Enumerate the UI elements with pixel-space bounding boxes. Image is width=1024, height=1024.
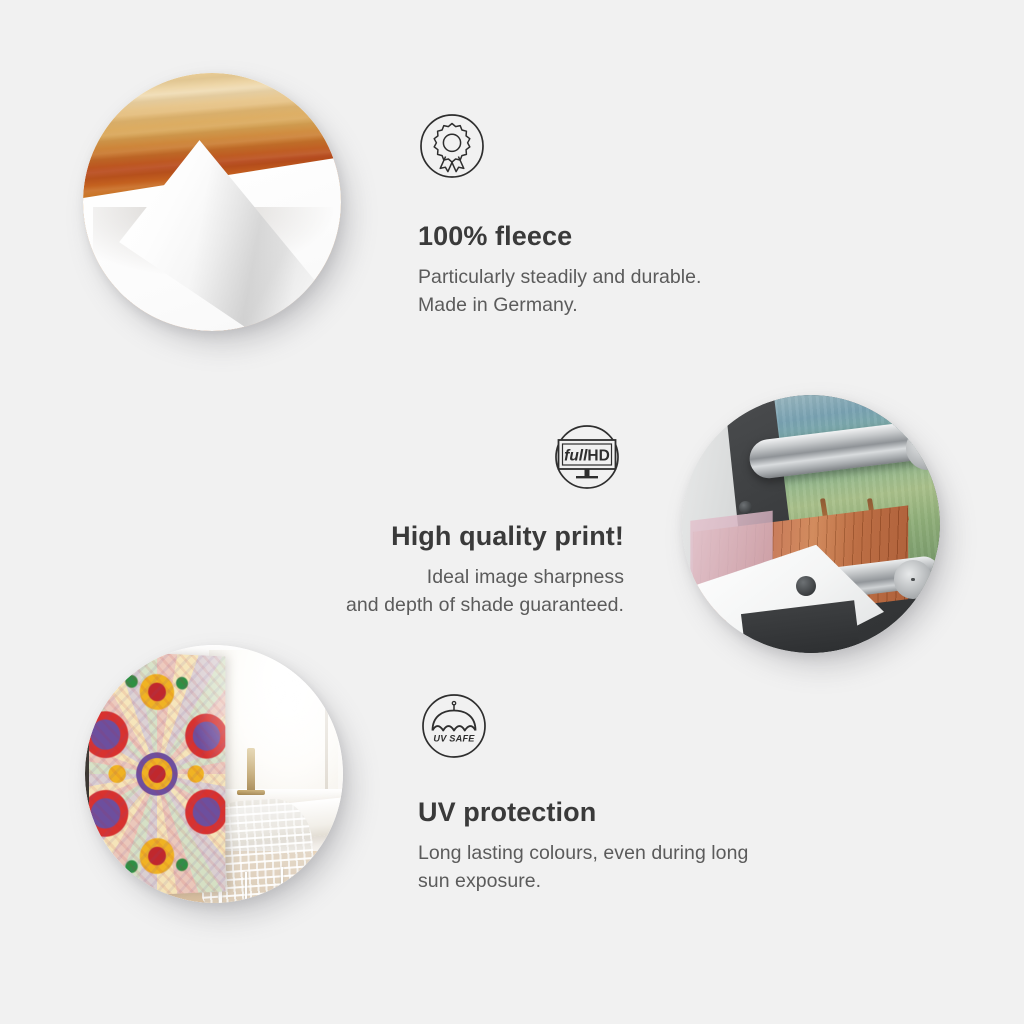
- feature-body-line: Ideal image sharpness: [224, 563, 624, 591]
- sunlit-window: [209, 650, 338, 810]
- feature-block-fleece: 100% fleece Particularly steadily and du…: [418, 222, 702, 319]
- feature-heading: 100% fleece: [418, 222, 702, 252]
- feature-heading: High quality print!: [224, 522, 624, 552]
- award-ribbon-icon: [418, 112, 486, 180]
- svg-text:fullHD: fullHD: [564, 448, 610, 465]
- feature-body-line: Particularly steadily and durable.: [418, 263, 702, 291]
- chair-leg: [281, 867, 283, 903]
- panel-edge: [85, 650, 89, 898]
- printer-knob: [739, 501, 752, 514]
- mandala-wallpaper-panel: [85, 650, 225, 898]
- svg-text:UV SAFE: UV SAFE: [433, 734, 475, 744]
- full-hd-monitor-icon: fullHD: [553, 423, 621, 491]
- feature-body-line: sun exposure.: [418, 867, 748, 895]
- mandala-pattern: [85, 650, 225, 898]
- mandala-wallpaper-interior-photo: [85, 645, 343, 903]
- photo-inner: [83, 73, 341, 331]
- curled-wallpaper-sample-photo: [83, 73, 341, 331]
- window-frame: [325, 660, 328, 789]
- feature-heading: UV protection: [418, 798, 748, 828]
- feature-body-line: and depth of shade guaranteed.: [224, 591, 624, 619]
- printer-roller-end-cap: [894, 560, 933, 599]
- feature-block-print: High quality print! Ideal image sharpnes…: [224, 522, 624, 619]
- photo-inner: [682, 395, 940, 653]
- uv-safe-umbrella-icon: UV SAFE: [420, 692, 488, 760]
- infographic-canvas: 100% fleece Particularly steadily and du…: [0, 0, 1024, 1024]
- photo-inner: [85, 645, 343, 903]
- chair-leg: [245, 872, 247, 903]
- feature-block-uv: UV protection Long lasting colours, even…: [418, 798, 748, 895]
- large-format-printer-photo: [682, 395, 940, 653]
- feature-body-line: Long lasting colours, even during long: [418, 839, 748, 867]
- brass-candlestick: [247, 748, 256, 792]
- feature-body-line: Made in Germany.: [418, 291, 702, 319]
